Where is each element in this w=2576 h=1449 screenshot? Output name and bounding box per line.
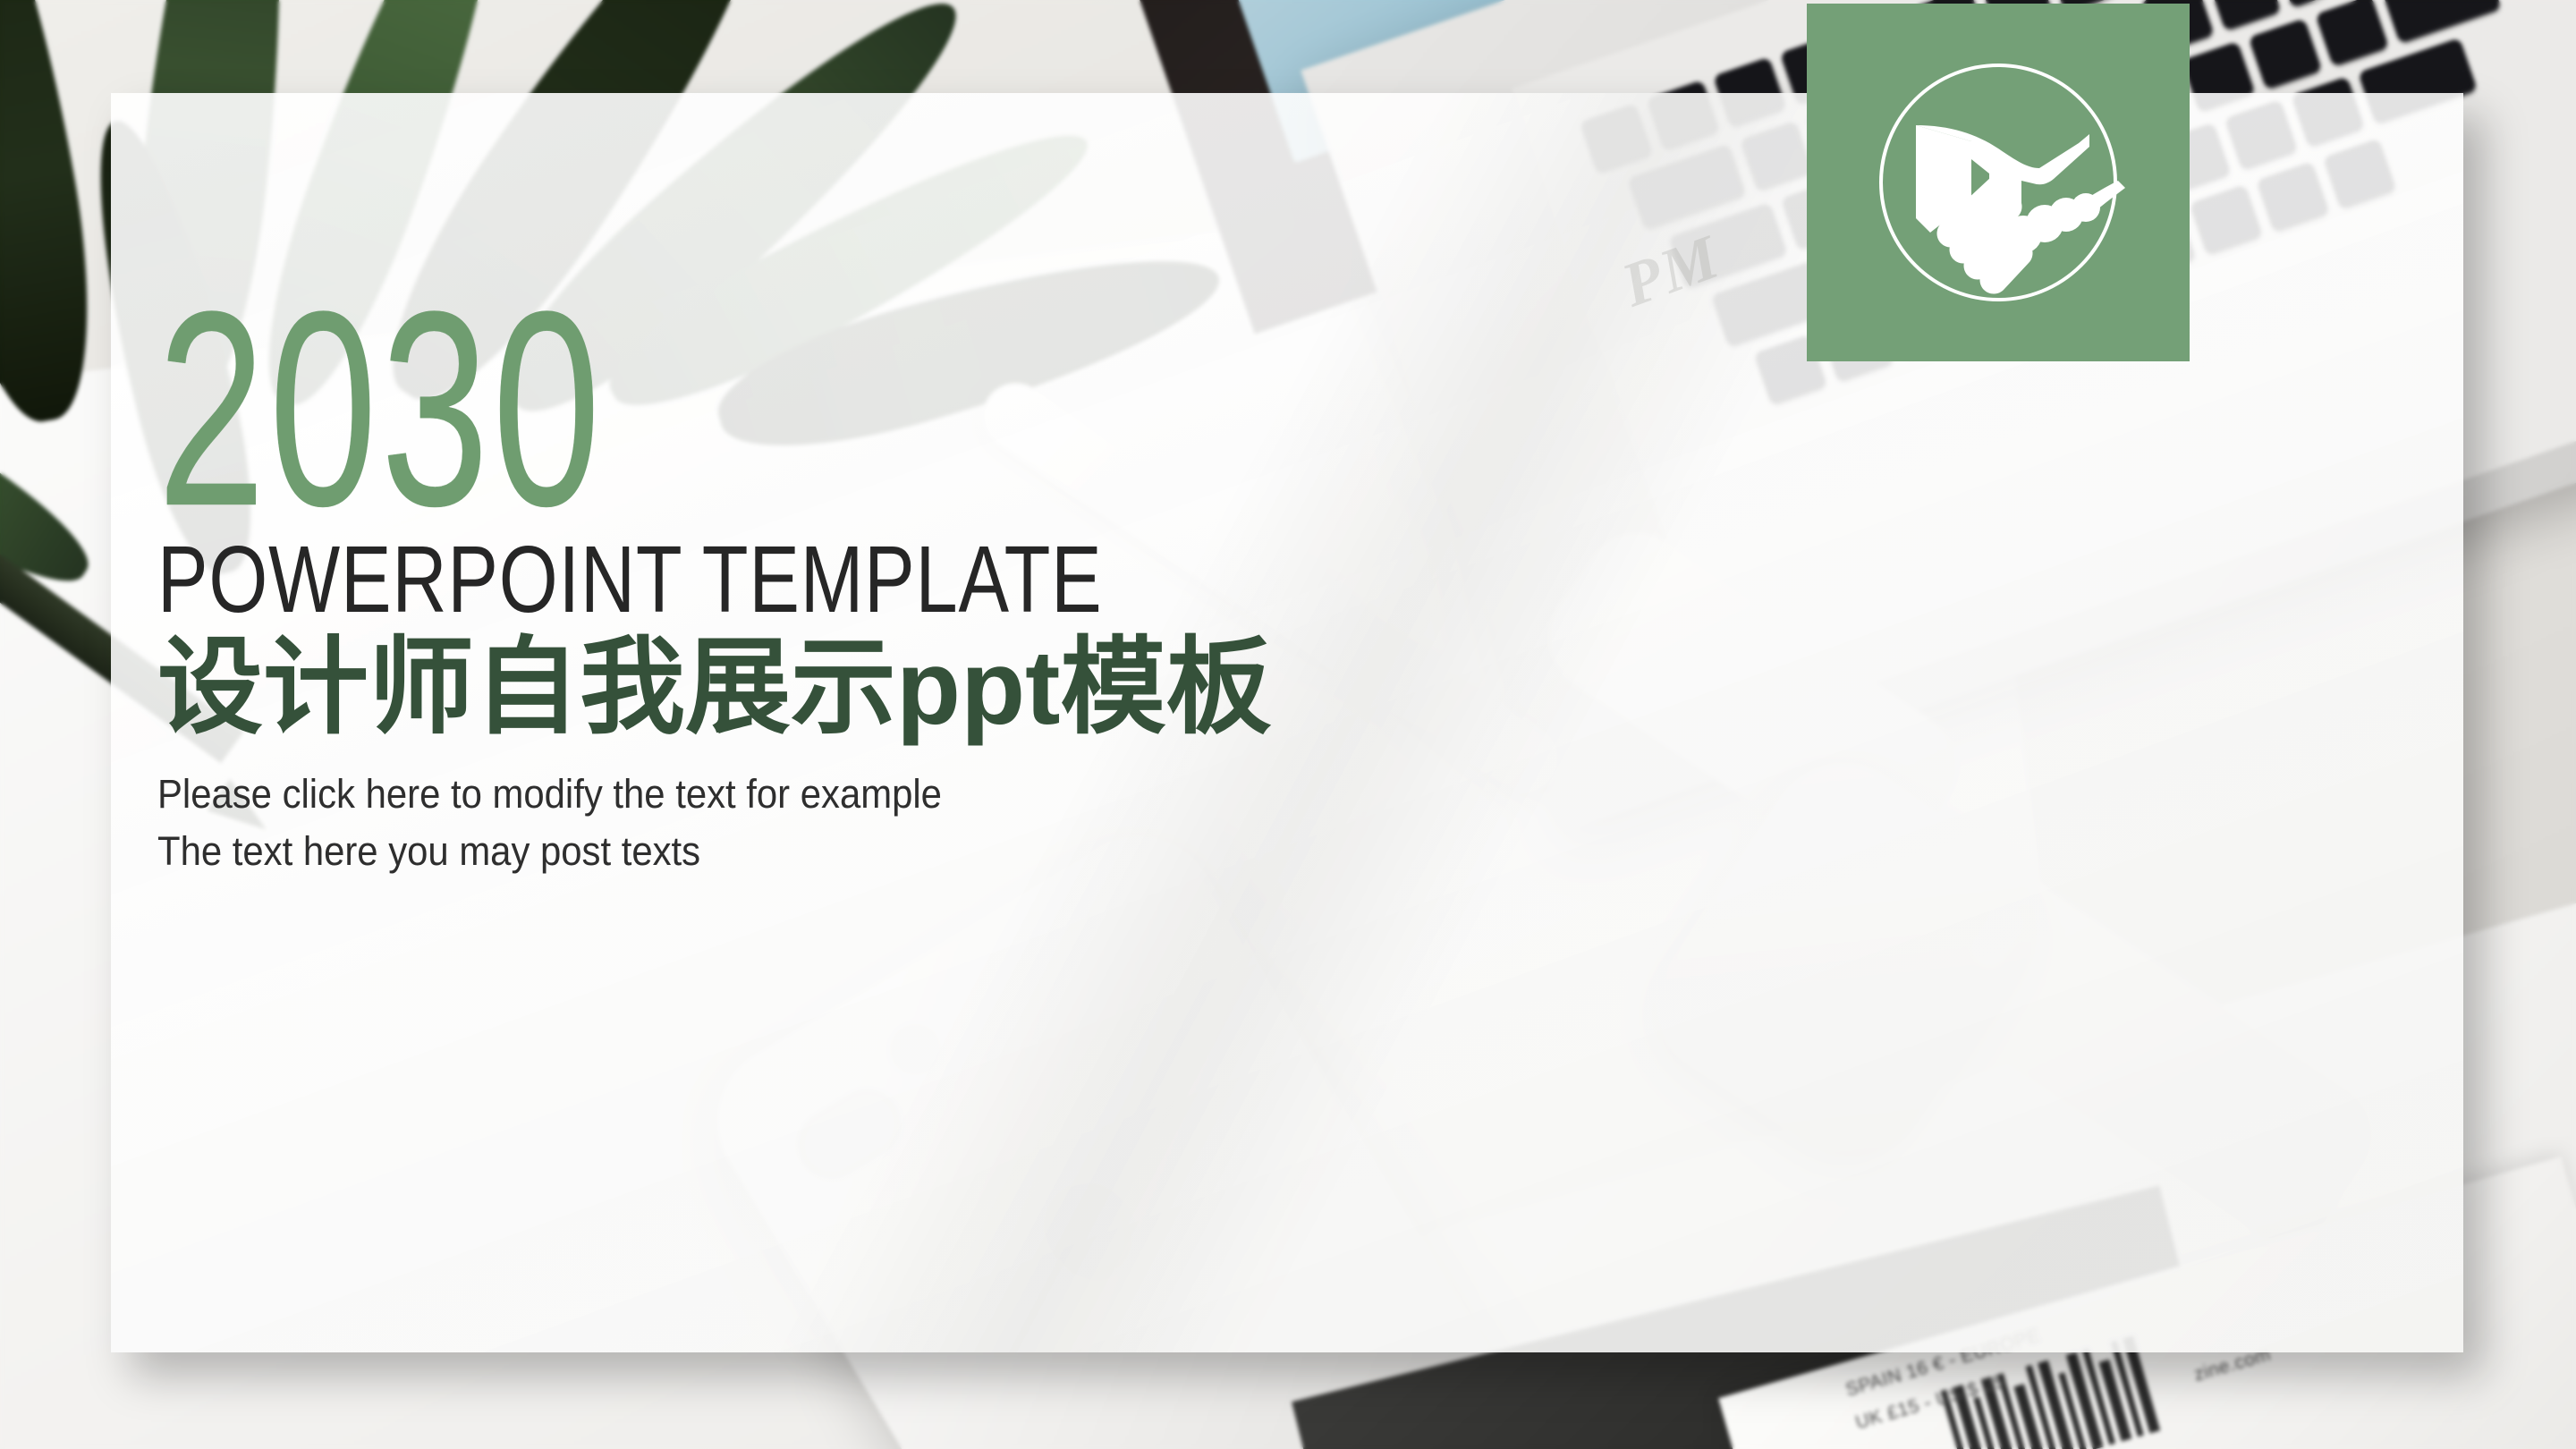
lead-paragraph: Please click here to modify the text for… [157,766,1572,880]
presentation-slide: SPAIN 16 € - EUROPE UK £15 - US $ 25 zin… [0,0,2576,1449]
headline-chinese: 设计师自我展示ppt模板 [157,631,1678,745]
lead-line-1: Please click here to modify the text for… [157,766,1572,823]
title-text-block: 2030 POWERPOINT TEMPLATE 设计师自我展示ppt模板 Pl… [157,295,1678,880]
lead-line-2: The text here you may post texts [157,823,1572,880]
year-heading: 2030 [157,295,1222,522]
subtitle-english: POWERPOINT TEMPLATE [157,531,1374,628]
handshake-icon [1864,48,2132,317]
logo-badge[interactable] [1807,4,2190,361]
